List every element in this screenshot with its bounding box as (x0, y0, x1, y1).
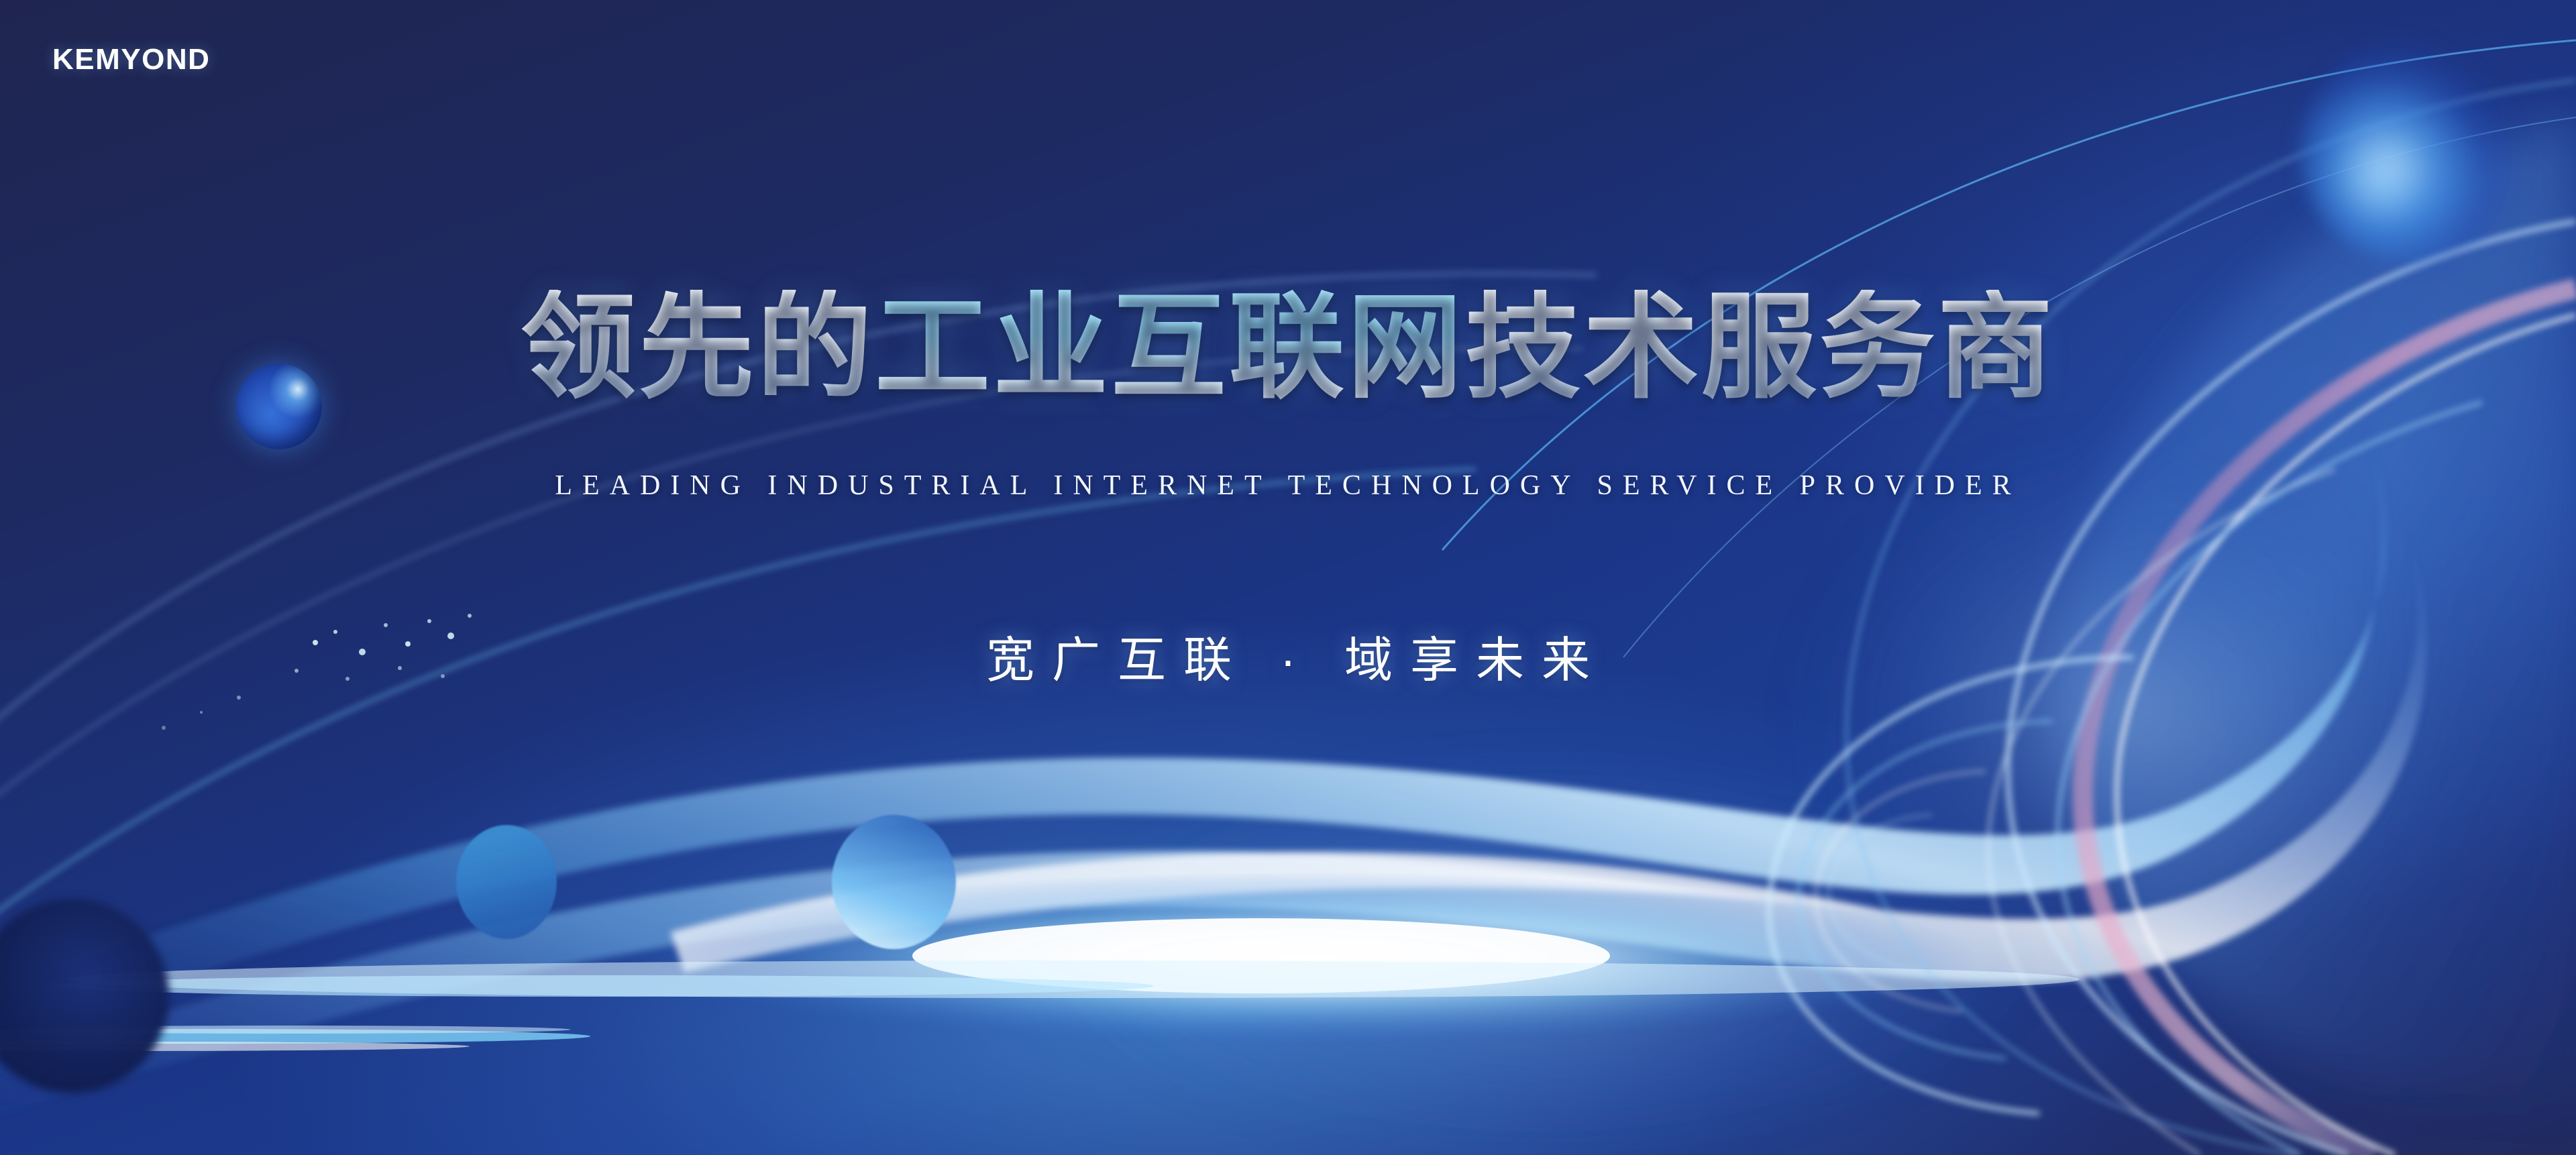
brand-logo: KEMYOND (52, 43, 210, 76)
headline-segment-2: 工业互联网 (875, 290, 1465, 405)
right-swirl-strokes (1847, 80, 2576, 1155)
background-art-layer (0, 0, 2576, 1155)
light-ribbons-svg (0, 0, 2576, 1155)
bottom-left-streaks (0, 1026, 590, 1051)
tagline-slogan: 宽广互联 · 域享未来 (0, 620, 2576, 691)
light-circle-icon (832, 815, 956, 949)
glowing-sphere-icon (2301, 40, 2522, 262)
headline-segment-3: 技术服务商 (1465, 290, 2055, 405)
banner-canvas: KEMYOND 领先的工业互联网技术服务商 LEADING INDUSTRIAL… (0, 0, 2576, 1155)
main-light-ribbons (0, 416, 2427, 1134)
page-title: 领先的工业互联网技术服务商 (0, 290, 2576, 405)
subtitle-english: LEADING INDUSTRIAL INTERNET TECHNOLOGY S… (0, 470, 2576, 502)
glowing-sphere-core-icon (2328, 74, 2482, 228)
dark-sphere-icon (0, 899, 169, 1093)
blue-circle-icon (456, 825, 557, 939)
headline-segment-1: 领先的 (521, 290, 875, 405)
vortex-loops (1769, 657, 2133, 1113)
central-light-burst (54, 872, 2080, 1046)
